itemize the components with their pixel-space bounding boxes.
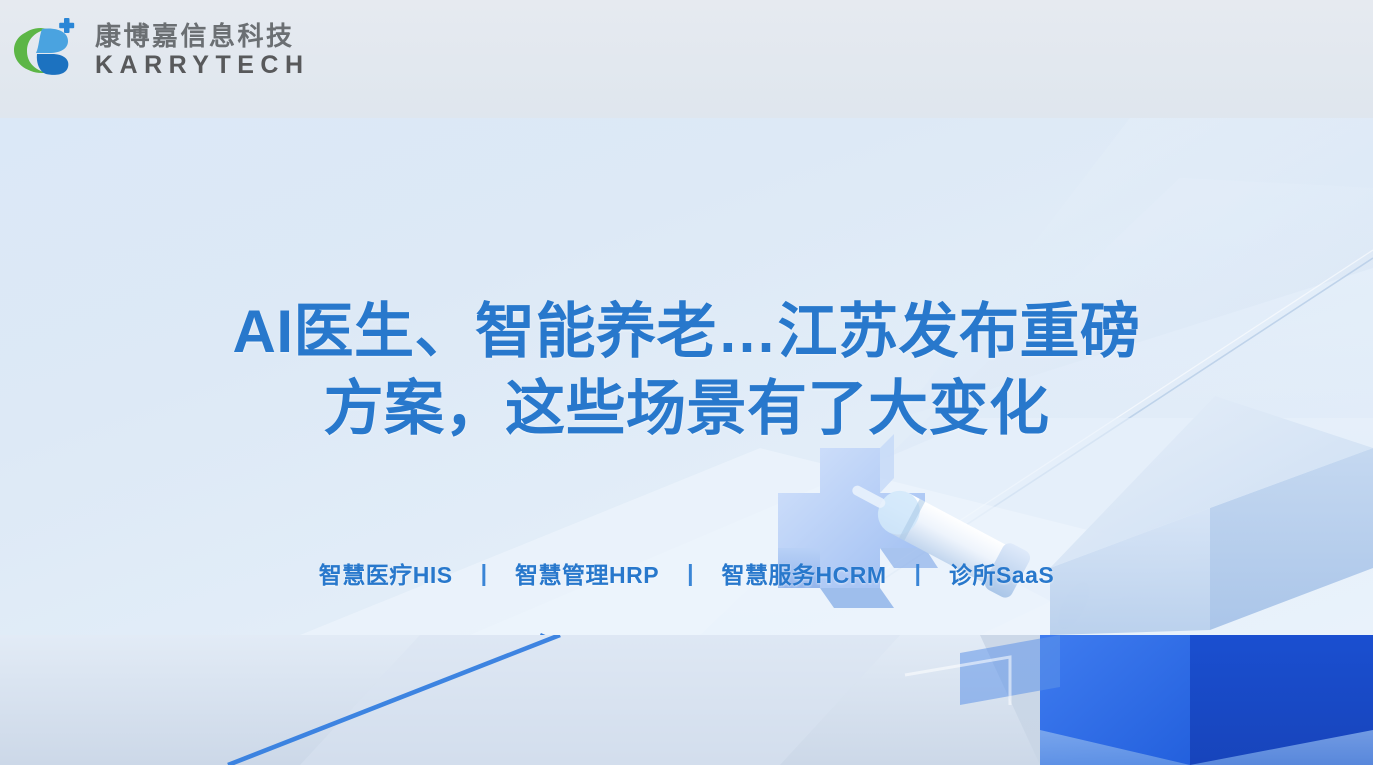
- nav-separator: |: [661, 560, 719, 587]
- brand-logo[interactable]: 康博嘉信息科技 KARRYTECH: [8, 16, 310, 82]
- hero-title: AI医生、智能养老…江苏发布重磅 方案，这些场景有了大变化: [0, 294, 1373, 448]
- site-header: 康博嘉信息科技 KARRYTECH: [0, 0, 1373, 118]
- nav-item-hrp[interactable]: 智慧管理HRP: [513, 556, 661, 590]
- karrytech-logo-mark: [8, 16, 82, 82]
- nav-separator: |: [455, 560, 513, 587]
- nav-item-hcrm[interactable]: 智慧服务HCRM: [720, 556, 889, 590]
- hero-product-nav: 智慧医疗HIS | 智慧管理HRP | 智慧服务HCRM | 诊所SaaS: [0, 556, 1373, 590]
- brand-name-cn: 康博嘉信息科技: [95, 22, 310, 50]
- hero-banner: AI医生、智能养老…江苏发布重磅 方案，这些场景有了大变化 智慧医疗HIS | …: [0, 118, 1373, 635]
- brand-name-en: KARRYTECH: [95, 52, 310, 79]
- brand-text: 康博嘉信息科技 KARRYTECH: [95, 19, 310, 79]
- hero-title-line-1: AI医生、智能养老…江苏发布重磅: [0, 294, 1373, 371]
- page-root: 康博嘉信息科技 KARRYTECH: [0, 0, 1373, 765]
- medical-plus-icon: [59, 18, 74, 33]
- nav-separator: |: [889, 560, 947, 587]
- bottom-band: [0, 635, 1373, 765]
- nav-item-his[interactable]: 智慧医疗HIS: [317, 556, 455, 590]
- nav-item-saas[interactable]: 诊所SaaS: [947, 556, 1056, 590]
- hero-title-line-2: 方案，这些场景有了大变化: [0, 371, 1373, 448]
